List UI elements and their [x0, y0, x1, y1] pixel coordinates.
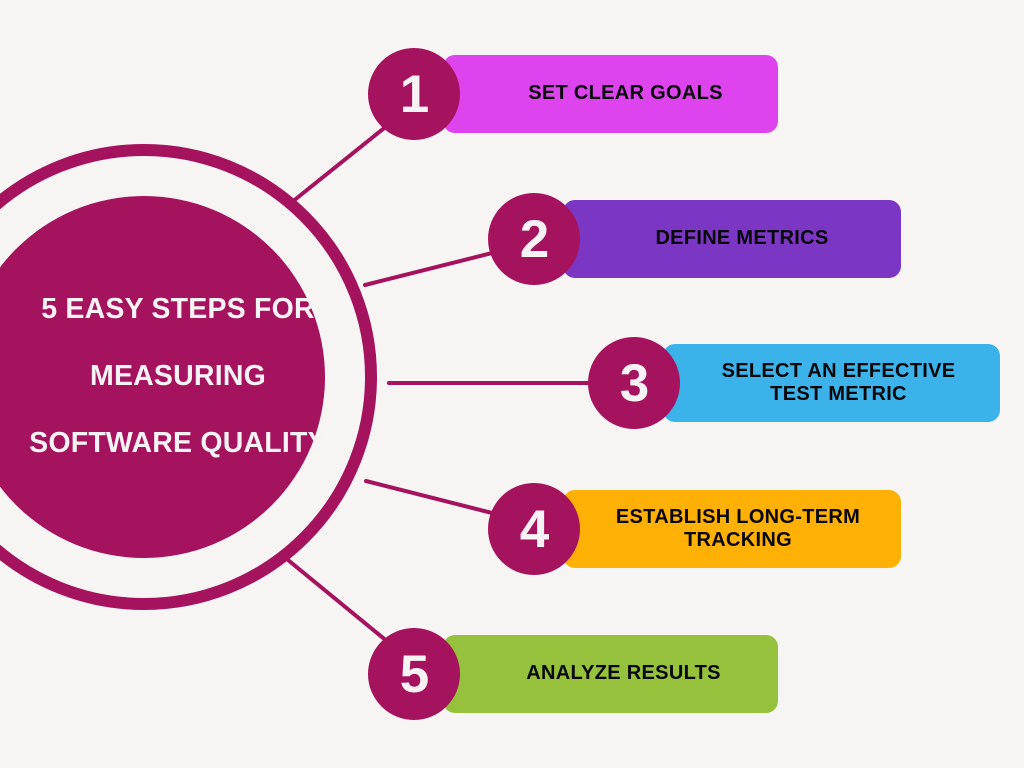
connector-line-2	[365, 251, 500, 285]
step-label-4-line-2: TRACKING	[684, 529, 792, 551]
step-label-4: ESTABLISH LONG-TERM TRACKING	[563, 506, 901, 552]
step-number-2: 2	[520, 213, 548, 266]
step-label-2: DEFINE METRICS	[563, 227, 901, 250]
connector-line-4	[366, 481, 500, 515]
step-bar-3[interactable]: SELECT AN EFFECTIVE TEST METRIC	[663, 344, 1000, 422]
step-label-1-line-1: SET CLEAR GOALS	[528, 82, 723, 104]
step-badge-2[interactable]: 2	[488, 193, 580, 285]
step-item-5[interactable]: ANALYZE RESULTS 5	[368, 635, 778, 713]
infographic-canvas: 5 EASY STEPS FOR MEASURING SOFTWARE QUAL…	[0, 0, 1024, 768]
step-bar-5[interactable]: ANALYZE RESULTS	[443, 635, 778, 713]
step-item-4[interactable]: ESTABLISH LONG-TERM TRACKING 4	[488, 490, 901, 568]
step-badge-5[interactable]: 5	[368, 628, 460, 720]
step-number-3: 3	[620, 357, 648, 410]
step-number-4: 4	[520, 503, 548, 556]
step-bar-1[interactable]: SET CLEAR GOALS	[443, 55, 778, 133]
step-number-1: 1	[400, 68, 428, 121]
step-item-3[interactable]: SELECT AN EFFECTIVE TEST METRIC 3	[588, 344, 1000, 422]
step-number-5: 5	[400, 648, 428, 701]
step-label-5-line-1: ANALYZE RESULTS	[526, 662, 721, 684]
step-badge-3[interactable]: 3	[588, 337, 680, 429]
step-item-1[interactable]: SET CLEAR GOALS 1	[368, 55, 778, 133]
step-label-2-line-1: DEFINE METRICS	[655, 227, 828, 249]
step-label-3-line-1: SELECT AN EFFECTIVE	[722, 360, 956, 382]
step-label-1: SET CLEAR GOALS	[443, 82, 778, 105]
step-label-3-line-2: TEST METRIC	[770, 383, 907, 405]
step-label-5: ANALYZE RESULTS	[443, 662, 778, 685]
step-label-4-line-1: ESTABLISH LONG-TERM	[616, 506, 860, 528]
step-label-3: SELECT AN EFFECTIVE TEST METRIC	[663, 360, 1000, 406]
step-item-2[interactable]: DEFINE METRICS 2	[488, 200, 901, 278]
step-bar-2[interactable]: DEFINE METRICS	[563, 200, 901, 278]
step-bar-4[interactable]: ESTABLISH LONG-TERM TRACKING	[563, 490, 901, 568]
step-badge-1[interactable]: 1	[368, 48, 460, 140]
step-badge-4[interactable]: 4	[488, 483, 580, 575]
